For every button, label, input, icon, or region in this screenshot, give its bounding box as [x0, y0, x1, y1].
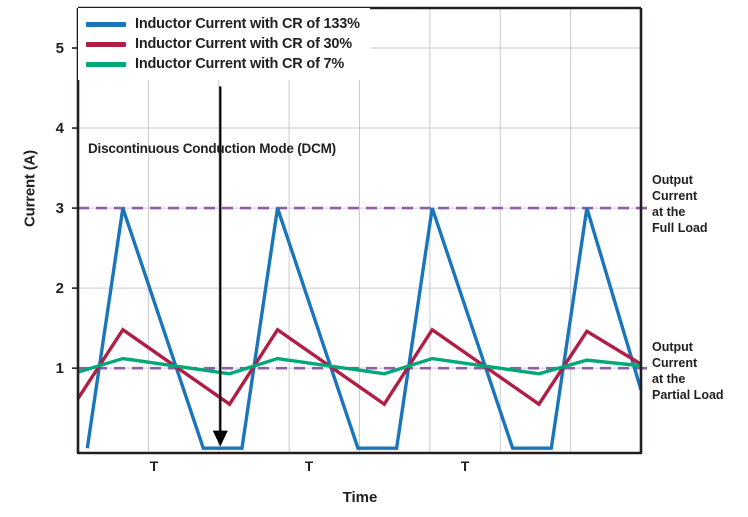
partial-load-note-line-4: Partial Load: [652, 387, 748, 403]
partial-load-note: Output Current at the Partial Load: [652, 339, 748, 403]
legend-item-0: Inductor Current with CR of 133%: [86, 14, 360, 34]
legend-swatch-icon-2: [86, 62, 126, 67]
full-load-note-line-4: Full Load: [652, 220, 748, 236]
legend-label-1: Inductor Current with CR of 30%: [135, 36, 352, 52]
chart-legend: Inductor Current with CR of 133% Inducto…: [78, 8, 370, 80]
full-load-note-line-1: Output: [652, 172, 748, 188]
dcm-annotation-label: Discontinuous Conduction Mode (DCM): [88, 141, 336, 156]
partial-load-note-line-3: at the: [652, 371, 748, 387]
chart-figure: Current (A) Time 5 4 3 2 1 T T T Discont…: [0, 0, 748, 517]
partial-load-note-line-2: Current: [652, 355, 748, 371]
legend-swatch-icon-1: [86, 42, 126, 47]
full-load-note: Output Current at the Full Load: [652, 172, 748, 236]
partial-load-note-line-1: Output: [652, 339, 748, 355]
full-load-note-line-3: at the: [652, 204, 748, 220]
full-load-note-line-2: Current: [652, 188, 748, 204]
legend-label-2: Inductor Current with CR of 7%: [135, 56, 344, 72]
legend-swatch-icon-0: [86, 22, 126, 27]
legend-item-1: Inductor Current with CR of 30%: [86, 34, 360, 54]
series-line-0: [87, 208, 641, 448]
dcm-arrow-head: [213, 431, 228, 447]
legend-label-0: Inductor Current with CR of 133%: [135, 16, 360, 32]
legend-item-2: Inductor Current with CR of 7%: [86, 54, 360, 74]
